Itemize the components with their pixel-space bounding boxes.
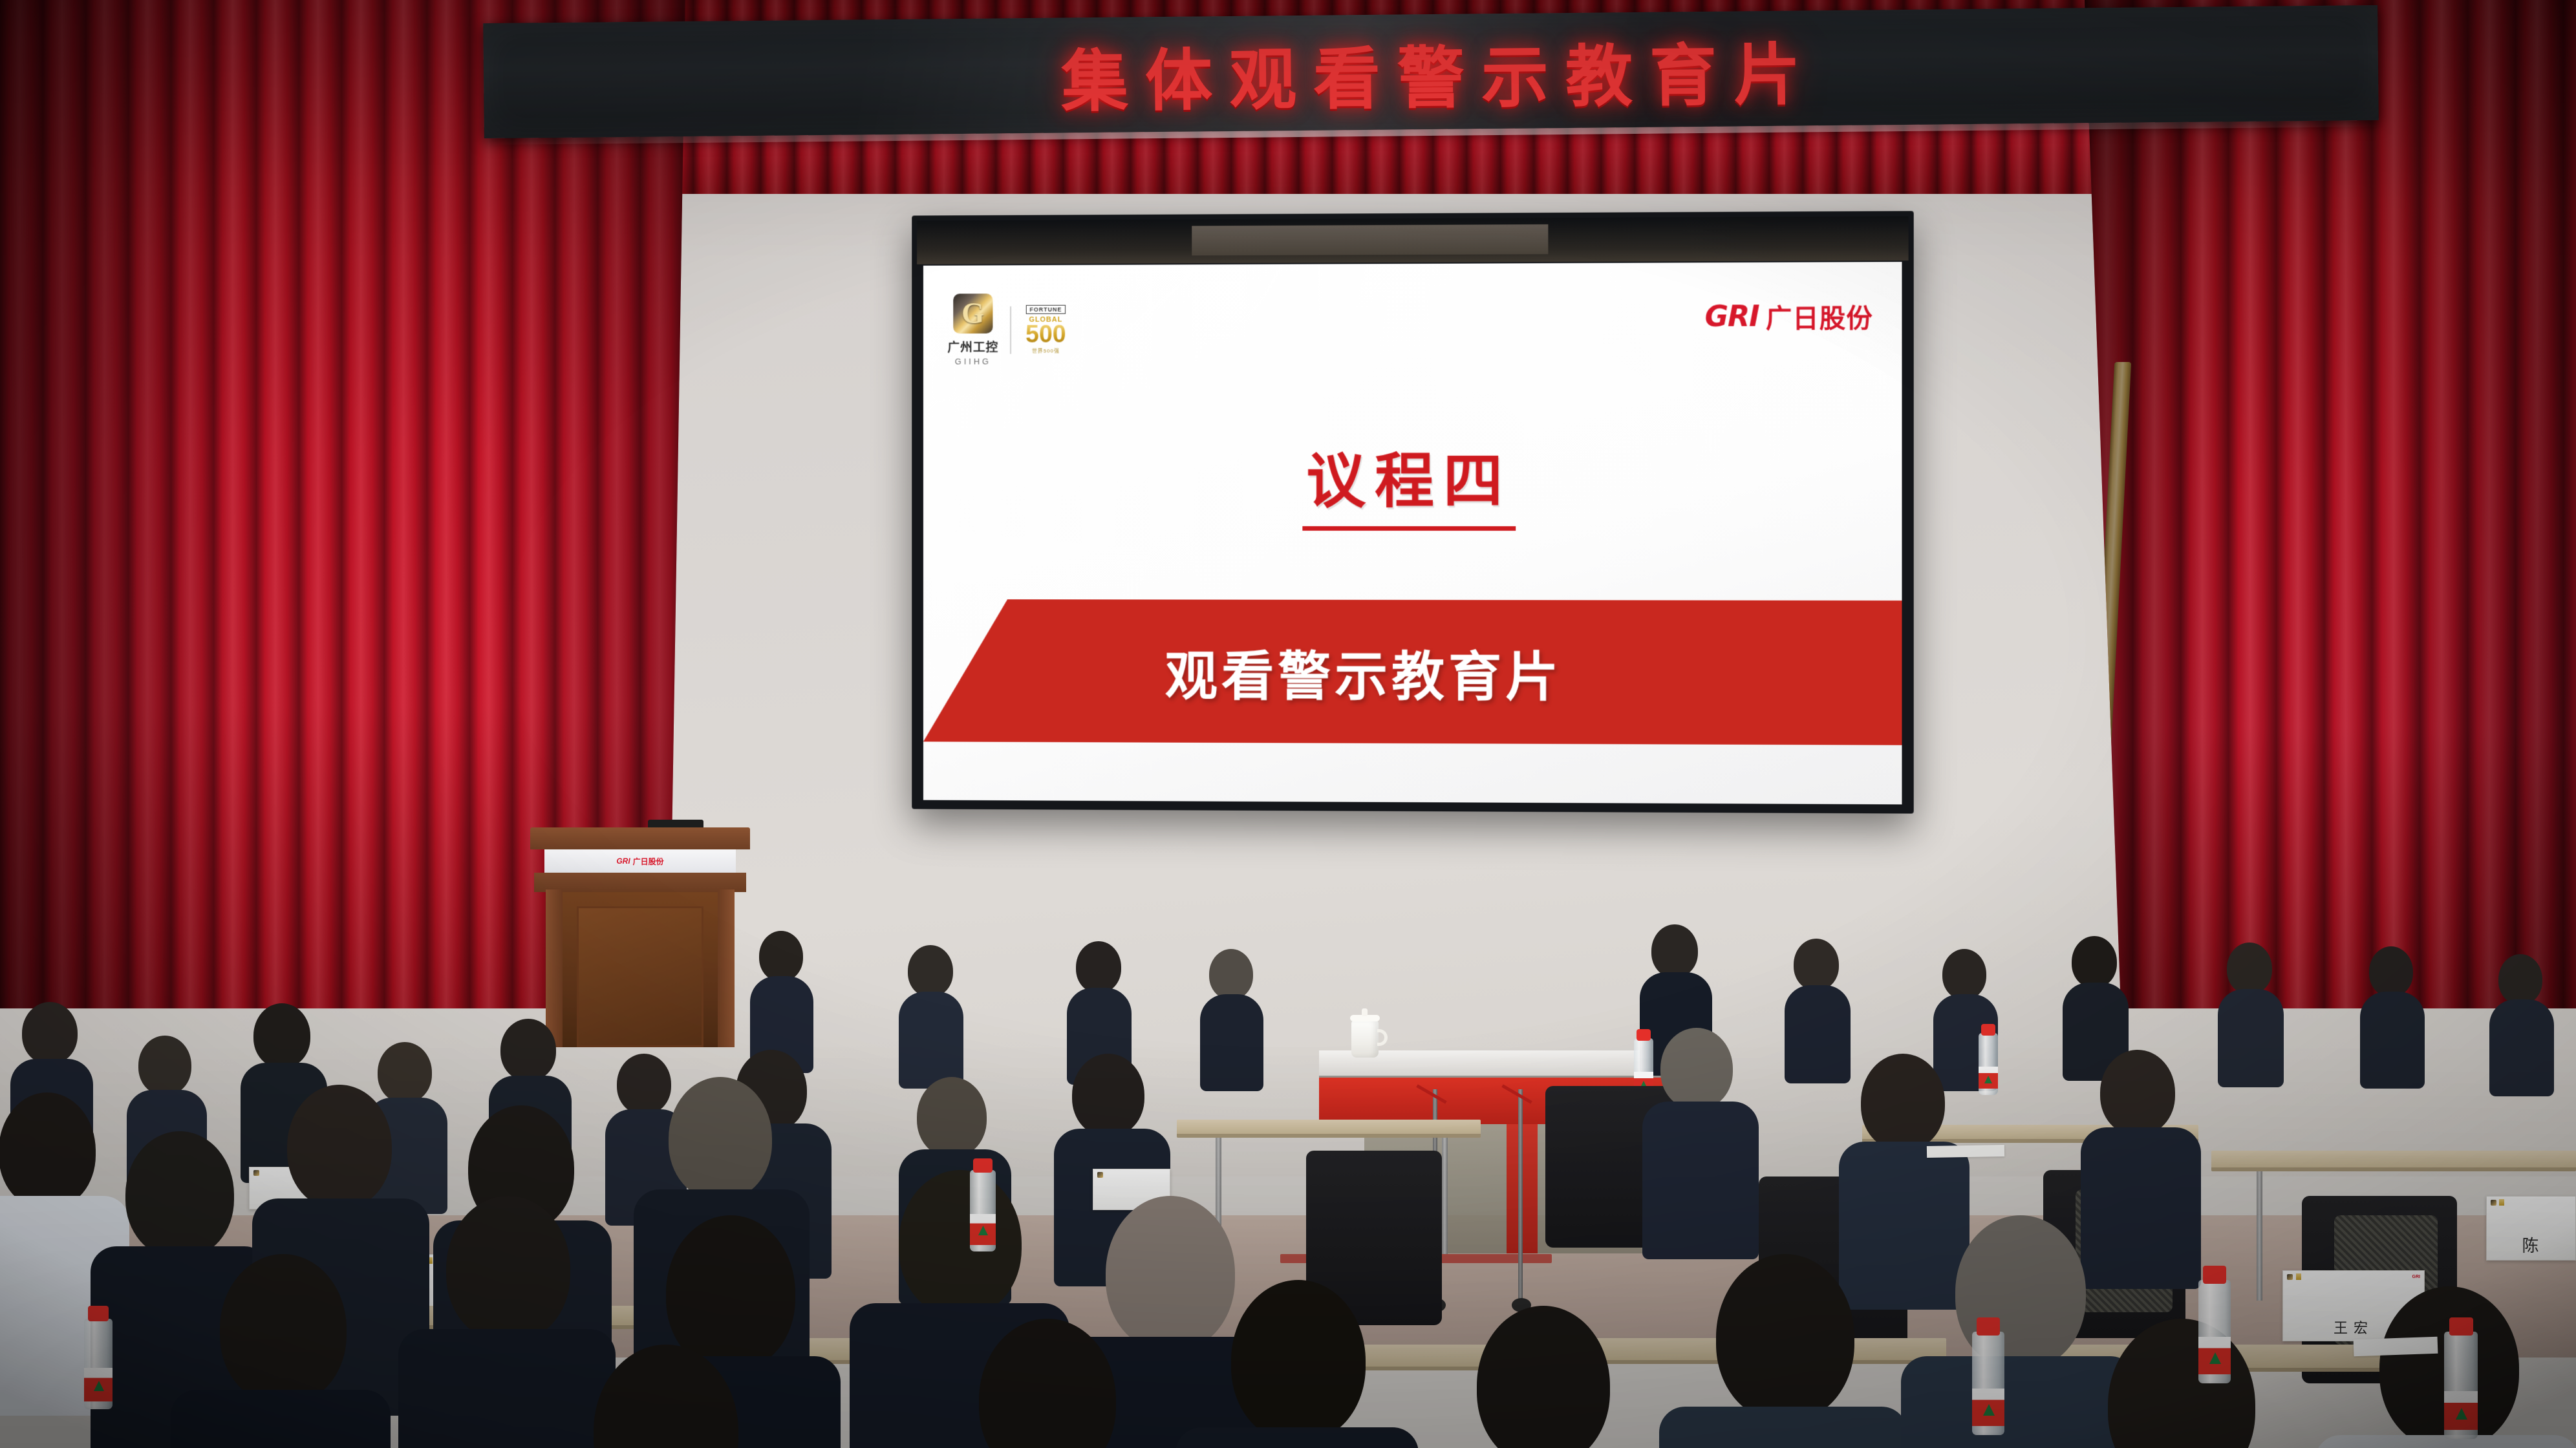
- attendee-head: [2100, 1050, 2175, 1135]
- attendee-head: [1942, 949, 1986, 999]
- lectern-lip: [534, 873, 746, 892]
- global500-number: 500: [1025, 323, 1066, 345]
- attendee-body: [1659, 1407, 1907, 1448]
- screen-top-frame: [917, 216, 1908, 264]
- attendee-head: [253, 1003, 310, 1068]
- attendee-head: [1716, 1254, 1854, 1421]
- name-plate-logo-row: [1097, 1172, 1166, 1178]
- attendee-body: [171, 1390, 391, 1448]
- bottle-label: [2198, 1337, 2231, 1374]
- water-bottle: [2444, 1332, 2478, 1439]
- attendee-head: [1651, 924, 1698, 977]
- attendee-head: [1660, 1028, 1733, 1109]
- attendee-body: [1839, 1142, 1970, 1310]
- bottle-label: [1979, 1067, 1998, 1089]
- fortune500-mark-icon: [2499, 1199, 2504, 1206]
- attendee-head: [1794, 939, 1839, 990]
- water-bottle: [84, 1319, 113, 1409]
- attendee-head: [1861, 1054, 1945, 1151]
- attendee-body: [1785, 985, 1851, 1083]
- desk-leg: [2257, 1171, 2262, 1301]
- bottle-cap: [973, 1158, 993, 1173]
- attendee-head: [2072, 936, 2117, 988]
- lectern-top: [530, 827, 750, 849]
- attendee-head: [446, 1196, 570, 1342]
- attendee-body: [1901, 1356, 2136, 1448]
- attendee-head: [287, 1085, 392, 1209]
- attendee-head: [1231, 1280, 1366, 1442]
- giihg-logo-block: G 广州工控 GIIHG: [947, 293, 998, 366]
- attendee-head: [138, 1036, 191, 1095]
- attendee-body: [1642, 1102, 1759, 1259]
- slide-title-text: 议程四: [1302, 447, 1516, 531]
- attendee-head: [2369, 946, 2413, 997]
- attendee-head: [500, 1019, 556, 1081]
- lectern-gri-mark: GRI: [616, 857, 630, 866]
- water-bottle: [970, 1170, 996, 1251]
- bottle-label: [1972, 1389, 2004, 1426]
- attendee-head: [2108, 1319, 2255, 1448]
- gri-name-cn: 广日股份: [1766, 297, 1873, 335]
- water-bottle: [1972, 1332, 2004, 1435]
- audience-area: GRI 王宏 陈 GRI: [0, 892, 2576, 1448]
- banner-text: 集体观看警示教育片: [483, 5, 2379, 138]
- screen-frame-glare: [1192, 224, 1548, 255]
- gri-logo: GRI 广日股份: [1705, 297, 1873, 335]
- giihg-mark-icon: [253, 1170, 259, 1176]
- event-banner: 集体观看警示教育片: [483, 5, 2379, 138]
- attendee-desk: [2211, 1151, 2576, 1171]
- name-plate-logo-row: [2491, 1199, 2571, 1206]
- attendee-head: [220, 1254, 347, 1404]
- fortune500-badge: FORTUNE GLOBAL 500 世界500强: [1023, 305, 1069, 355]
- attendee-head: [1072, 1054, 1144, 1136]
- bottle-cap: [1981, 1024, 1995, 1036]
- lectern-gri-cn: 广日股份: [633, 856, 664, 867]
- attendee-head: [1076, 941, 1121, 993]
- gri-mark-icon: GRI: [2412, 1275, 2420, 1279]
- slide-band-text: 观看警示教育片: [923, 599, 1902, 745]
- global500-cn-label: 世界500强: [1032, 347, 1060, 354]
- attendee-head: [908, 945, 953, 997]
- attendee-body: [1200, 994, 1263, 1091]
- giihg-name-en: GIIHG: [955, 357, 991, 367]
- attendee-head: [22, 1002, 78, 1064]
- attendee-body: [398, 1329, 616, 1448]
- attendee-head: [669, 1077, 772, 1200]
- bottle-cap: [88, 1306, 109, 1321]
- name-plate-logo-row: GRI: [2287, 1273, 2420, 1280]
- fortune500-mark-icon: [2296, 1273, 2301, 1280]
- attendee-head: [1477, 1306, 1610, 1448]
- lectern-logo-panel: GRI 广日股份: [544, 849, 736, 873]
- bottle-tree-icon: [978, 1226, 988, 1235]
- giihg-mark-icon: [1097, 1172, 1103, 1178]
- attendee-head: [899, 1170, 1022, 1316]
- curtain-shading-right: [2085, 0, 2576, 1008]
- bottle-cap: [1637, 1029, 1651, 1041]
- bottle-label: [2444, 1391, 2478, 1430]
- bottle-tree-icon: [1984, 1076, 1992, 1083]
- attendee-head: [125, 1131, 234, 1258]
- attendee-desk: [1177, 1120, 1481, 1138]
- attendee-body: [2360, 992, 2425, 1089]
- handout-paper: [2354, 1337, 2438, 1357]
- attendee-head: [2227, 942, 2272, 994]
- bottle-tree-icon: [2209, 1352, 2221, 1364]
- attendee-body: [2081, 1127, 2201, 1289]
- bottle-label: [84, 1368, 113, 1401]
- attendee-head: [1209, 949, 1253, 999]
- fortune-label: FORTUNE: [1026, 305, 1066, 314]
- slide-red-band: 观看警示教育片: [923, 599, 1902, 745]
- name-plate: 陈: [2486, 1196, 2576, 1261]
- bottle-cap: [2449, 1317, 2473, 1336]
- slide-title: 议程四: [923, 432, 1902, 519]
- name-plate-name: 陈: [2487, 1233, 2575, 1257]
- bottle-tree-icon: [2456, 1408, 2467, 1420]
- attendee-body: [1175, 1427, 1419, 1448]
- giihg-g-mark-icon: G: [953, 293, 993, 334]
- giihg-logo: G 广州工控 GIIHG FORTUNE GLOBAL 500 世界500强: [947, 293, 1069, 367]
- stage-curtain-right: [2085, 0, 2576, 1008]
- conference-hall-photo: 集体观看警示教育片 G 广州工控 GIIHG FORTUNE GLOBAL 50…: [0, 0, 2576, 1448]
- projection-screen: G 广州工控 GIIHG FORTUNE GLOBAL 500 世界500强 G…: [912, 211, 1913, 813]
- bottle-tree-icon: [1983, 1404, 1995, 1416]
- giihg-mark-icon: [2287, 1274, 2293, 1280]
- logo-divider: [1010, 306, 1011, 354]
- attendee-head: [917, 1077, 987, 1157]
- desk-leg: [1442, 1138, 1448, 1254]
- attendee-body: [899, 992, 963, 1089]
- giihg-mark-icon: [2491, 1200, 2496, 1206]
- handout-paper: [1927, 1145, 2004, 1158]
- giihg-name-cn: 广州工控: [947, 338, 998, 356]
- presentation-slide: G 广州工控 GIIHG FORTUNE GLOBAL 500 世界500强 G…: [923, 262, 1902, 804]
- attendee-head: [2498, 954, 2542, 1005]
- attendee-head: [1106, 1196, 1235, 1351]
- attendee-body: [2218, 989, 2284, 1087]
- attendee-head: [759, 931, 803, 981]
- gri-mark: GRI: [1705, 300, 1759, 334]
- bottle-label: [970, 1214, 996, 1245]
- water-bottle: [1979, 1033, 1998, 1095]
- bottle-tree-icon: [94, 1381, 104, 1391]
- bottle-cap: [1977, 1317, 2000, 1336]
- attendee-head: [0, 1092, 96, 1209]
- bottle-cap: [2203, 1266, 2226, 1284]
- attendee-head: [378, 1042, 432, 1103]
- water-bottle: [2198, 1280, 2231, 1383]
- attendee-head: [617, 1054, 671, 1114]
- attendee-body: [2489, 999, 2554, 1096]
